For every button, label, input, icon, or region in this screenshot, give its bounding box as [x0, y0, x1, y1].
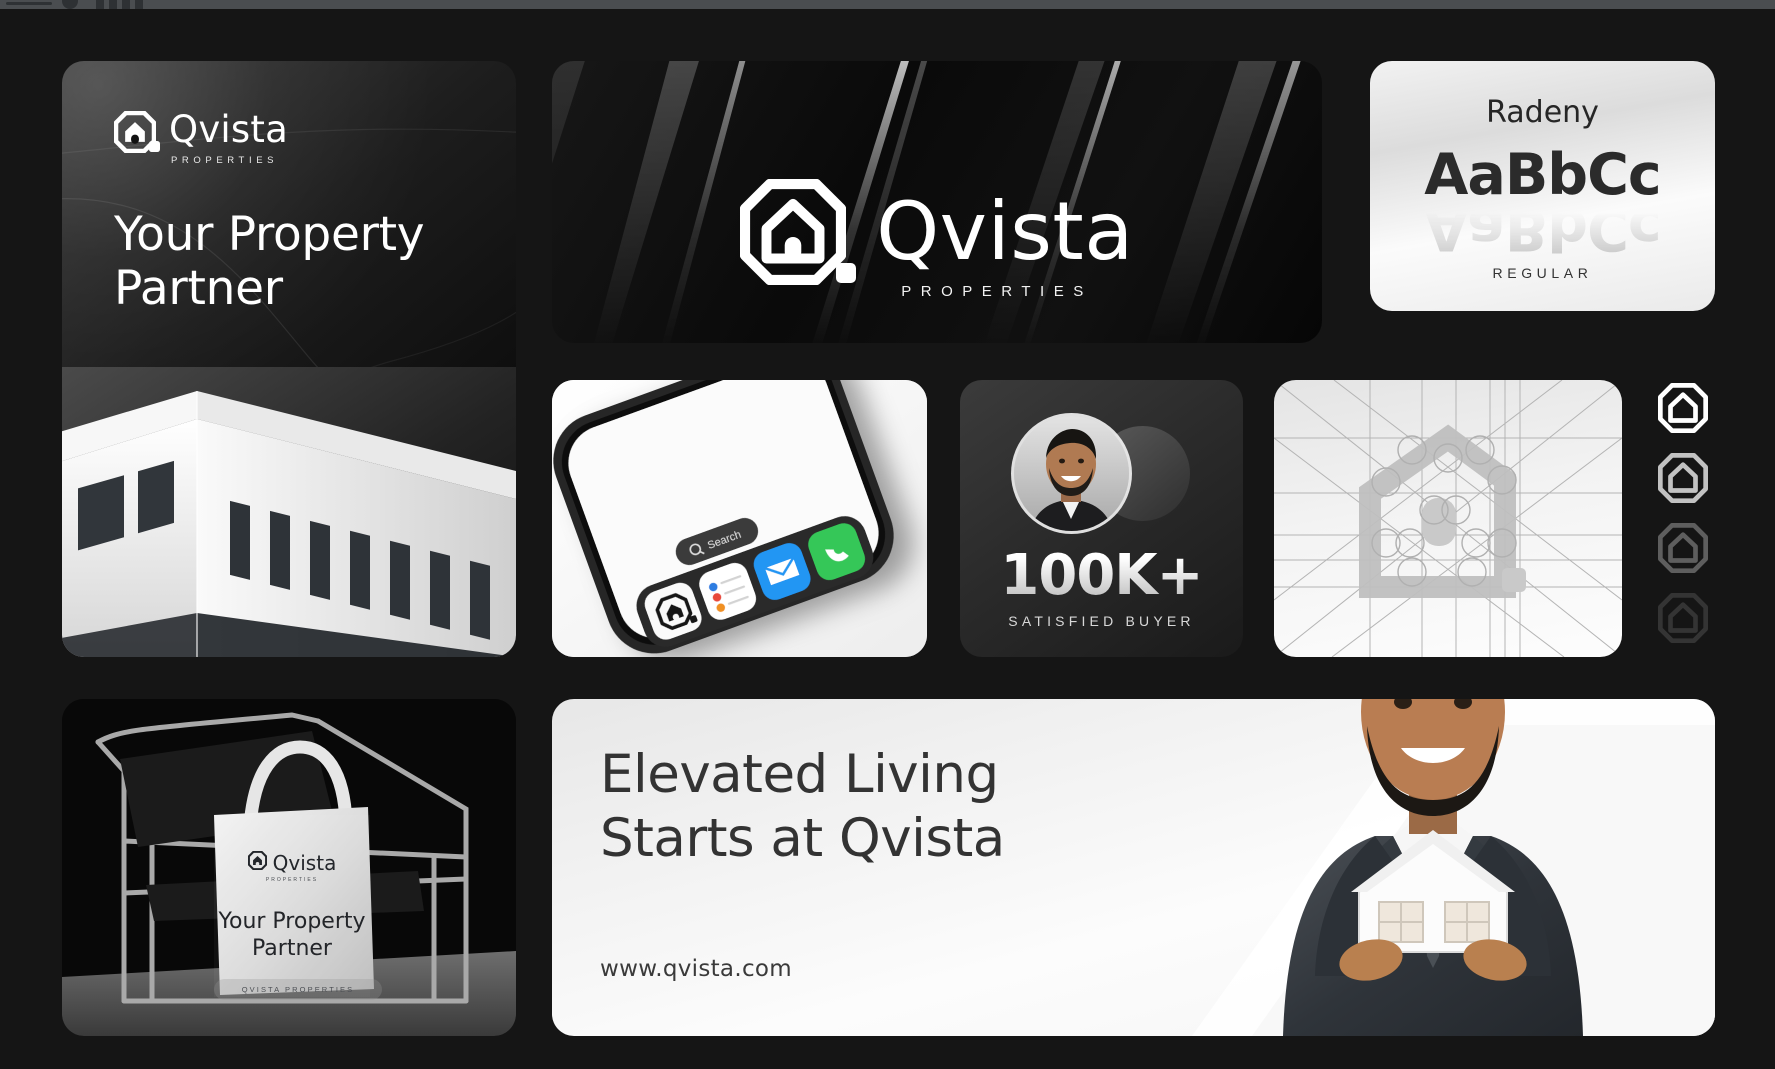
banner-person — [1243, 699, 1623, 1036]
logo-mark-light-gray[interactable] — [1658, 453, 1708, 508]
chrome-left-segment — [0, 0, 390, 9]
card-logo-grid[interactable] — [1274, 380, 1622, 657]
banner-url[interactable]: www.qvista.com — [600, 956, 792, 982]
qvista-house-octagon-icon — [740, 179, 846, 285]
font-name: Radeny — [1370, 95, 1715, 130]
building-photo — [62, 367, 516, 657]
window-chrome-bar — [0, 0, 1775, 9]
window-dot-icon[interactable] — [62, 0, 78, 9]
chrome-tab[interactable] — [135, 0, 143, 9]
tote-title: Your Property Partner — [214, 909, 370, 963]
primary-logo-subtitle: PROPERTIES — [552, 283, 1322, 300]
avatar-group — [960, 416, 1243, 531]
font-weight-label: REGULAR — [1370, 265, 1715, 281]
qvista-house-octagon-icon — [114, 111, 156, 153]
menu-icon[interactable] — [6, 2, 52, 5]
chrome-tab[interactable] — [122, 0, 130, 9]
font-specimen: AaBbCc — [1370, 147, 1715, 204]
logo-mark-white[interactable] — [1658, 383, 1708, 438]
chrome-tab[interactable] — [96, 0, 104, 9]
brand-board: Qvista PROPERTIES Your Property Partner — [0, 0, 1775, 1069]
card-tote-bag[interactable]: Qvista PROPERTIES Your Property Partner … — [62, 699, 516, 1036]
stat-value: 100K+ — [960, 548, 1243, 604]
card-hero-left[interactable]: Qvista PROPERTIES Your Property Partner — [62, 61, 516, 657]
tote-pill: QVISTA PROPERTIES — [214, 979, 382, 1000]
hero-left-title: Your Property Partner — [114, 208, 494, 315]
phone-device: Search — [552, 380, 927, 657]
hero-left-logo-word: Qvista — [169, 111, 288, 148]
banner-title: Elevated Living Starts at Qvista — [600, 743, 1220, 870]
tote-logo-subtitle: PROPERTIES — [214, 877, 370, 883]
card-stats[interactable]: 100K+ SATISFIED BUYER — [960, 380, 1243, 657]
stat-label: SATISFIED BUYER — [960, 613, 1243, 629]
logo-construction-grid — [1274, 380, 1622, 657]
tote-logo-word: Qvista — [273, 851, 337, 875]
hero-left-logo: Qvista PROPERTIES — [114, 111, 288, 166]
banner-title-line2: Starts at Qvista — [600, 807, 1220, 871]
logo-variant-column — [1658, 383, 1708, 648]
font-specimen-reflection: AaBbCc — [1370, 200, 1715, 257]
logo-mark-mid-gray[interactable] — [1658, 523, 1708, 578]
tote-logo-row: Qvista — [214, 851, 370, 875]
hero-left-logo-subtitle: PROPERTIES — [171, 155, 288, 166]
chrome-tab[interactable] — [109, 0, 117, 9]
chrome-tab-strip[interactable] — [96, 0, 143, 9]
avatar — [1014, 416, 1129, 531]
qvista-house-octagon-icon — [248, 851, 267, 875]
banner-title-line1: Elevated Living — [600, 743, 1220, 807]
tote-print: Qvista PROPERTIES Your Property Partner … — [214, 851, 370, 1000]
board-canvas: Qvista PROPERTIES Your Property Partner — [0, 9, 1775, 1069]
card-phone-mockup[interactable]: Search — [552, 380, 927, 657]
card-typography[interactable]: Radeny AaBbCc AaBbCc REGULAR — [1370, 61, 1715, 311]
font-specimen-block: AaBbCc AaBbCc — [1370, 147, 1715, 257]
primary-logo-lockup: Qvista — [552, 179, 1322, 285]
card-primary-logo[interactable]: Qvista PROPERTIES — [552, 61, 1322, 343]
card-bottom-banner[interactable]: Elevated Living Starts at Qvista www.qvi… — [552, 699, 1715, 1036]
logo-mark-dark-gray[interactable] — [1658, 593, 1708, 648]
primary-logo-word: Qvista — [876, 192, 1134, 272]
